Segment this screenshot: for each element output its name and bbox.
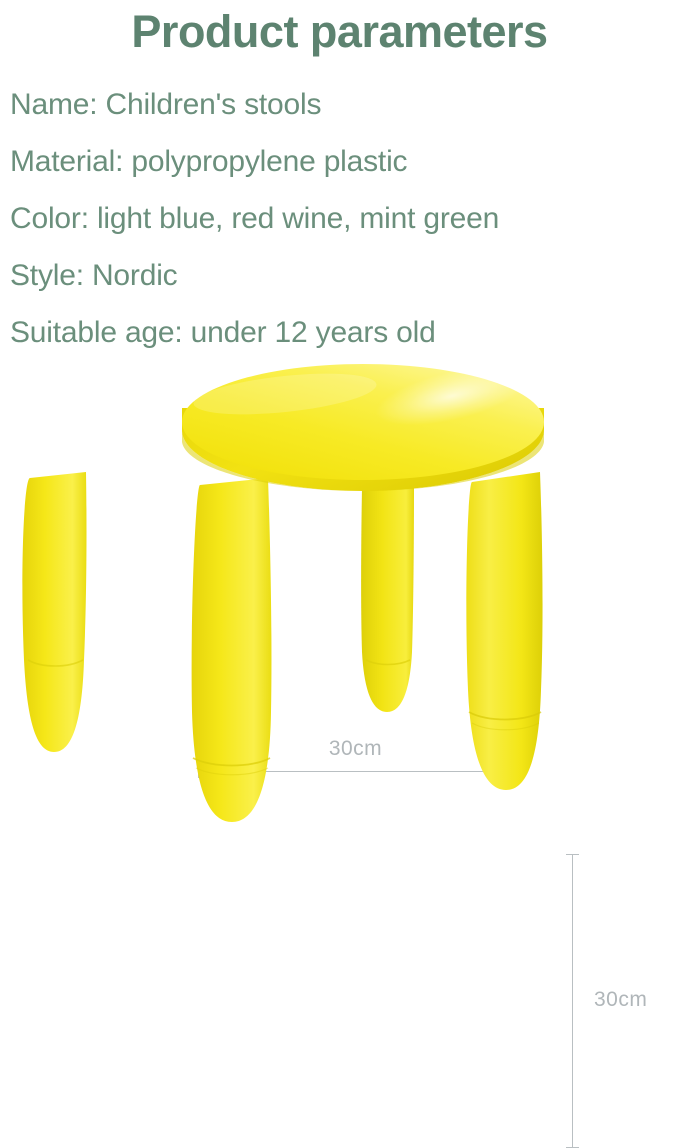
stool-leg-back-center [361,488,414,712]
page-title: Product parameters [0,8,679,55]
spec-row-color: Color: light blue, red wine, mint green [10,190,679,247]
product-figure: 30cm 30cm [0,360,679,853]
spec-row-suitable-age: Suitable age: under 12 years old [10,304,679,361]
spec-row-name: Name: Children's stools [10,76,679,133]
stool-leg-front-left [192,478,272,822]
stool-leg-far-left [22,472,86,752]
product-parameters-list: Name: Children's stools Material: polypr… [10,76,679,361]
stool-illustration [0,360,679,853]
spec-row-material: Material: polypropylene plastic [10,133,679,190]
stool-seat [182,360,544,491]
spec-row-style: Style: Nordic [10,247,679,304]
stool-leg-right [466,472,542,790]
height-dimension-line [572,854,573,1147]
height-dimension-tick-top [566,854,579,855]
height-dimension-label: 30cm [594,988,647,1012]
